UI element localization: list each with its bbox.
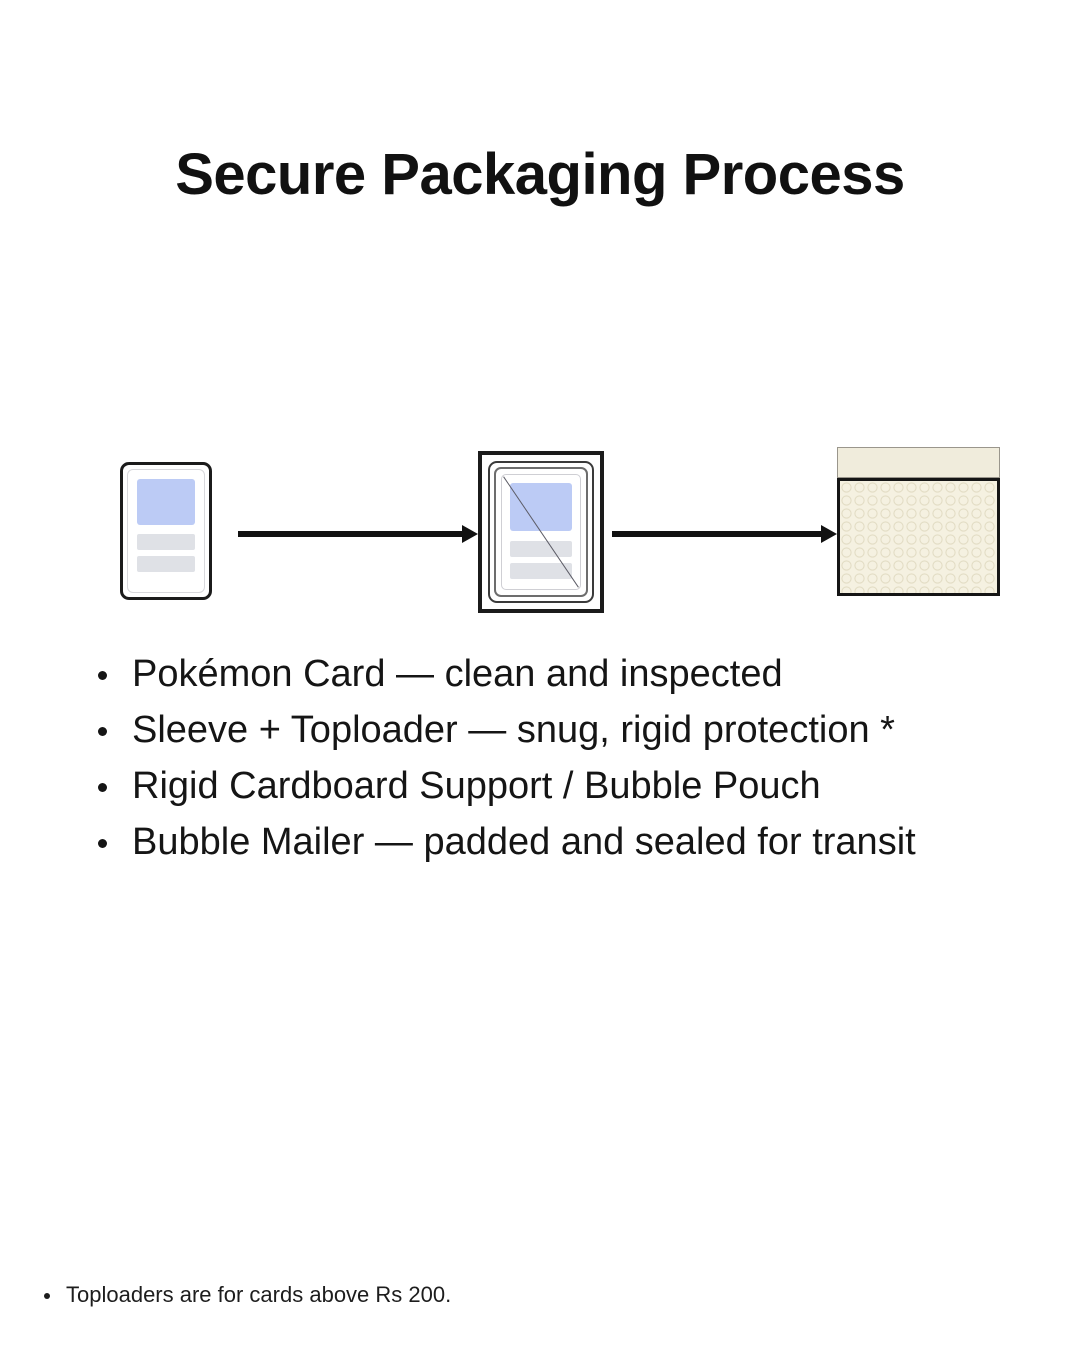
card-face [127, 469, 205, 593]
arrow-right-icon [612, 525, 837, 543]
arrow-shaft [238, 531, 464, 537]
slide-root: { "title": "Secure Packaging Process", "… [0, 0, 1080, 1350]
toploader-icon [478, 451, 604, 613]
bubble-mailer-icon [837, 447, 1000, 616]
sleeve-outer-edge [488, 461, 594, 603]
list-item: Pokémon Card — clean and inspected [88, 646, 1048, 702]
packaging-steps-list: Pokémon Card — clean and inspected Sleev… [88, 646, 1048, 870]
card-text-bar [137, 556, 195, 572]
card-text-bar [510, 541, 572, 557]
footnote-item: Toploaders are for cards above Rs 200. [36, 1279, 936, 1311]
card-artwork-panel [510, 483, 572, 531]
footnote-list: Toploaders are for cards above Rs 200. [36, 1279, 936, 1311]
mailer-body [837, 478, 1000, 596]
card-text-bar [510, 563, 572, 579]
card-text-bar [137, 534, 195, 550]
packaging-flow-diagram [0, 420, 1080, 640]
trading-card-icon [120, 462, 212, 600]
arrow-head [821, 525, 837, 543]
arrow-shaft [612, 531, 823, 537]
list-item: Bubble Mailer — padded and sealed for tr… [88, 814, 1048, 870]
arrow-right-icon [238, 525, 478, 543]
bubble-padding-pattern [840, 481, 997, 593]
list-item: Rigid Cardboard Support / Bubble Pouch [88, 758, 1048, 814]
card-artwork-panel [137, 479, 195, 525]
list-item: Sleeve + Toploader — snug, rigid protect… [88, 702, 1048, 758]
arrow-head [462, 525, 478, 543]
card-face [501, 474, 581, 590]
page-title: Secure Packaging Process [0, 143, 1080, 207]
sleeve-inner-edge [494, 467, 588, 597]
mailer-flap [837, 447, 1000, 478]
